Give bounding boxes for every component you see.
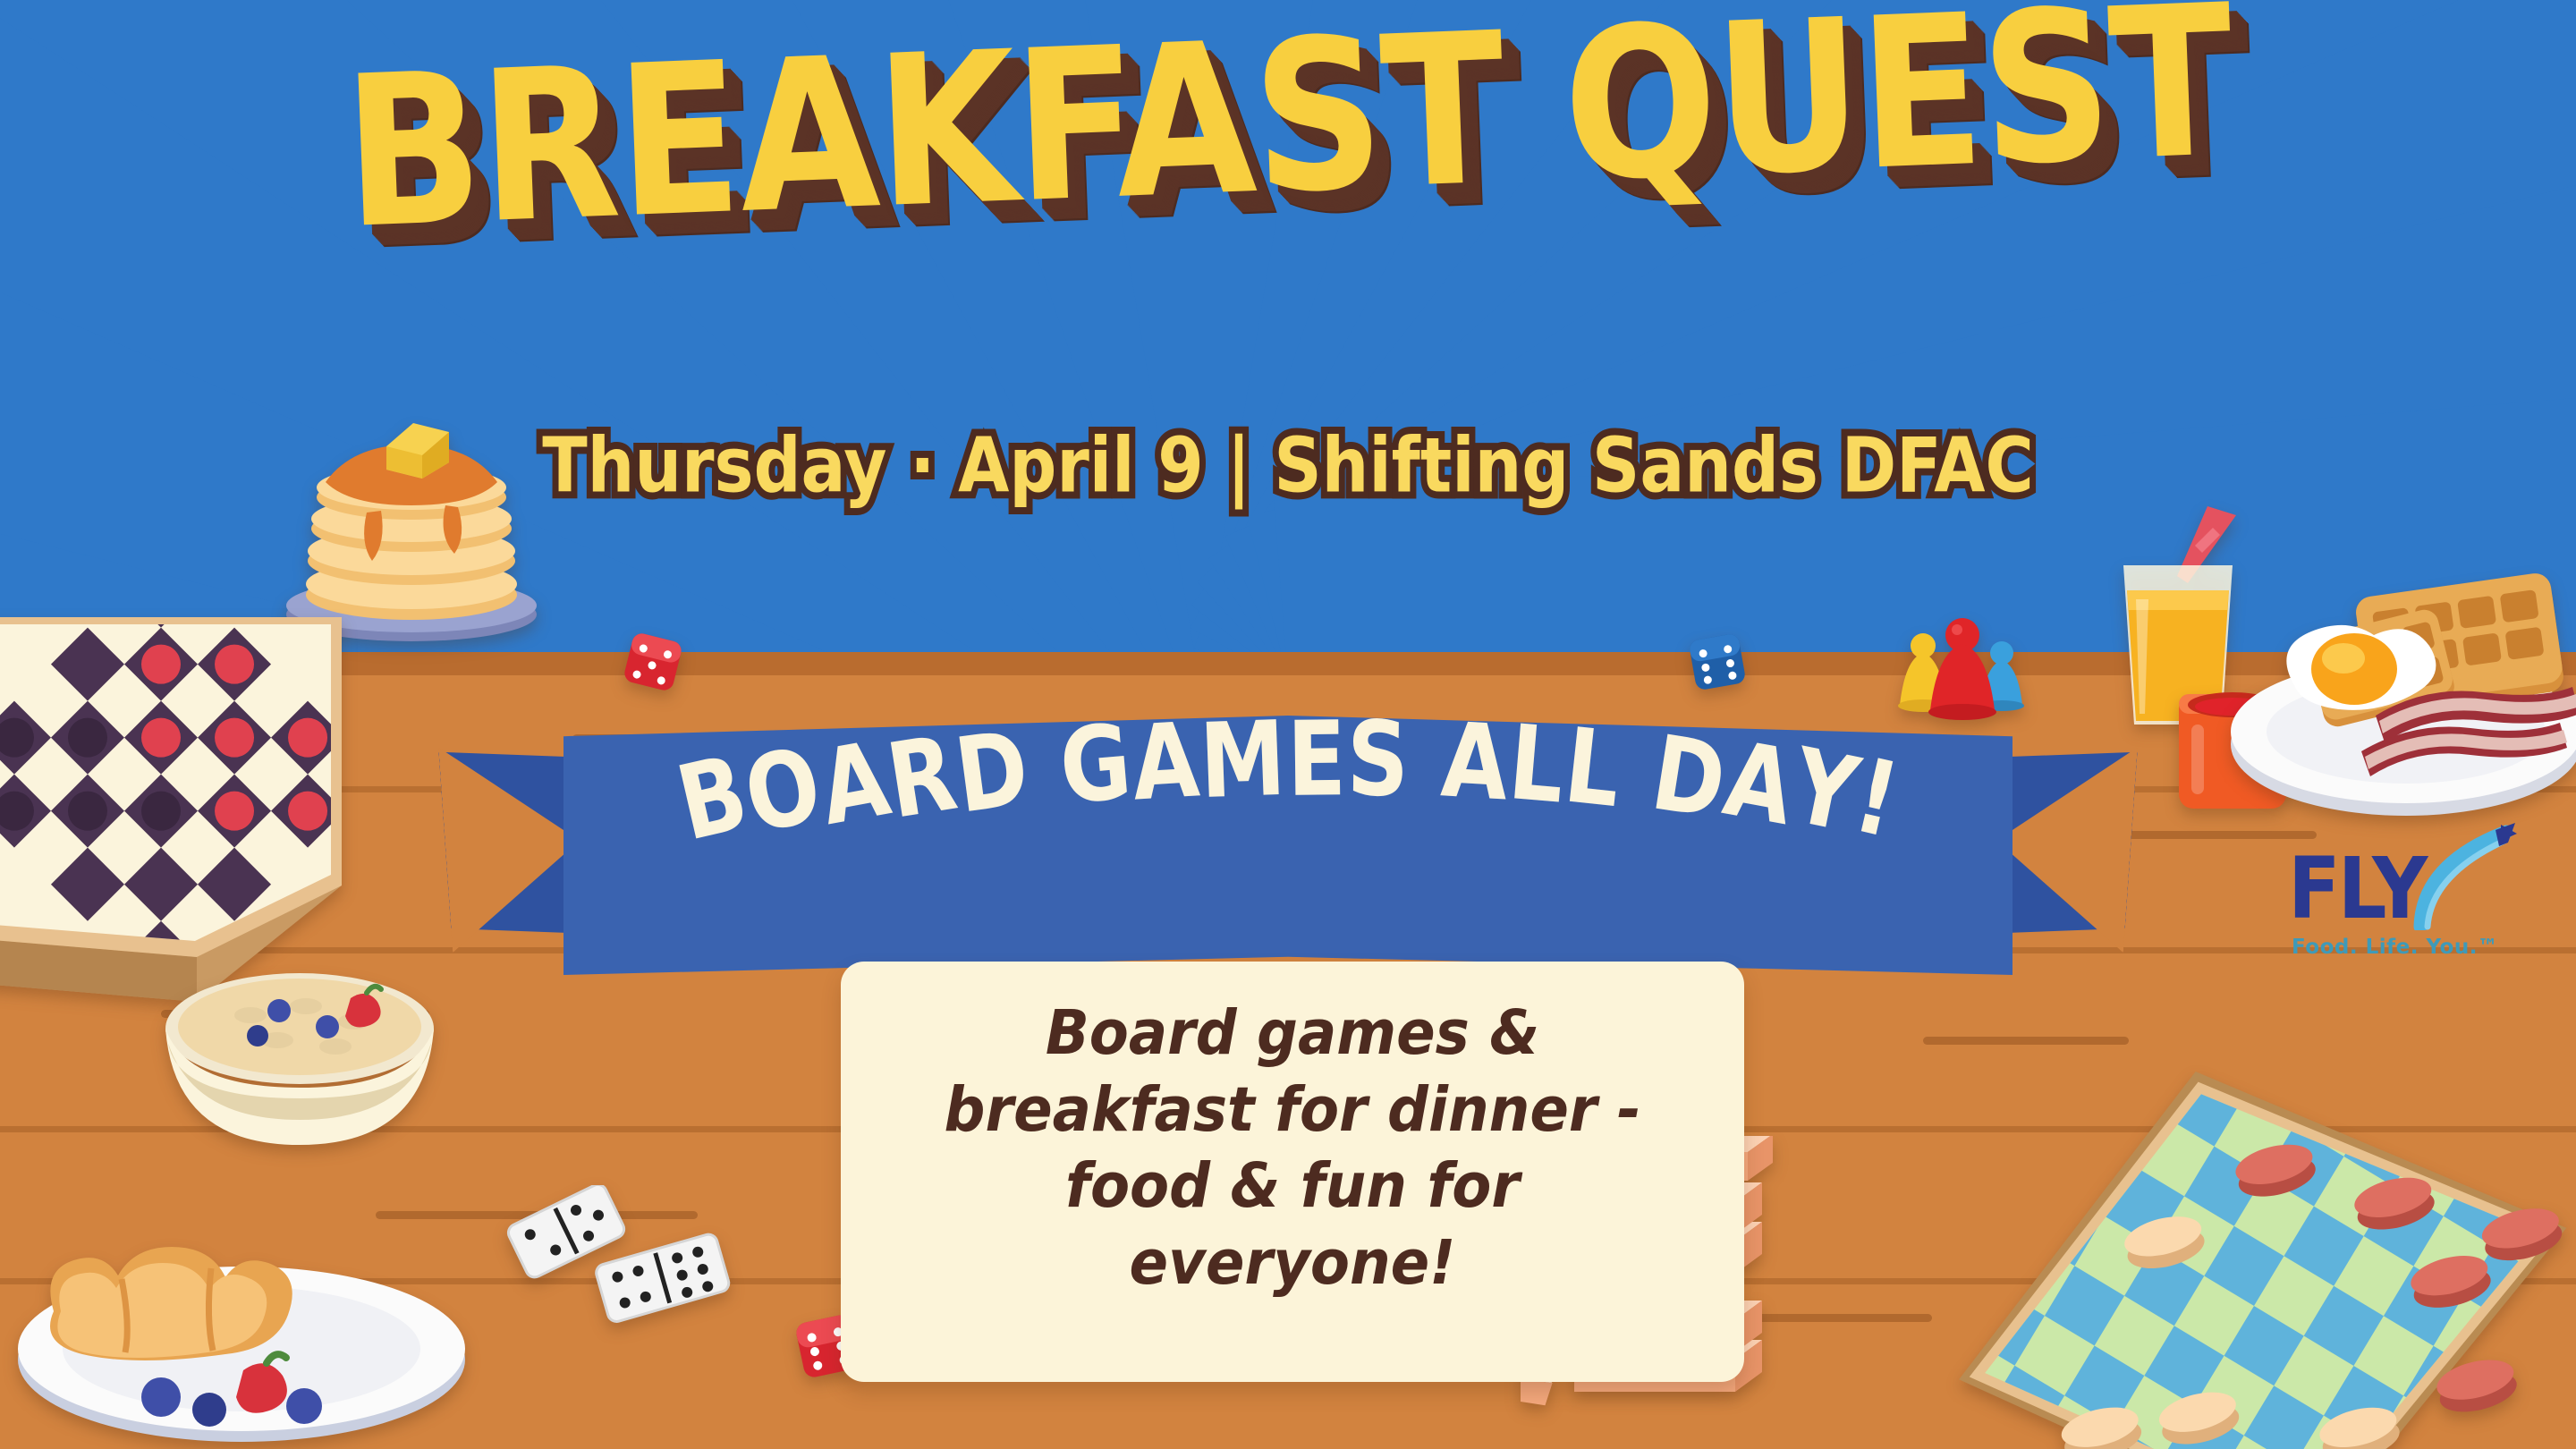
game-pawns-illustration: [1887, 617, 2039, 742]
fly-logo: FLY Food. Life. You.™: [2288, 839, 2512, 964]
event-subtitle: Thursday · April 9 | Shifting Sands DFAC: [0, 422, 2576, 510]
die-blue-illustration: [1682, 626, 1753, 698]
poster-canvas: BREAKFAST QUEST Thursday · April 9 | Shi…: [0, 0, 2576, 1449]
die-red-top-illustration: [617, 626, 689, 698]
dominoes-illustration: [501, 1185, 769, 1364]
banner-char: M: [1198, 699, 1287, 822]
banner-char: A: [1438, 700, 1512, 825]
banner-char: G: [1055, 701, 1136, 827]
banner-char: E: [1286, 699, 1346, 819]
oatmeal-bowl-illustration: [152, 921, 447, 1163]
banner-char: [1408, 699, 1442, 821]
banner-headline: BOARD GAMES ALL DAY!: [0, 757, 2576, 857]
fly-tagline: Food. Life. You.™: [2292, 936, 2498, 959]
checkerboard-right-illustration: [1914, 1011, 2576, 1449]
banner-char: L: [1504, 702, 1569, 826]
description-card: Board games & breakfast for dinner - foo…: [841, 962, 1744, 1382]
banner-char: A: [1129, 700, 1202, 825]
banner-char: S: [1346, 699, 1410, 819]
fly-wordmark: FLY: [2288, 840, 2425, 938]
croissant-plate-illustration: [9, 1181, 474, 1449]
description-text: Board games & breakfast for dinner - foo…: [872, 996, 1712, 1301]
